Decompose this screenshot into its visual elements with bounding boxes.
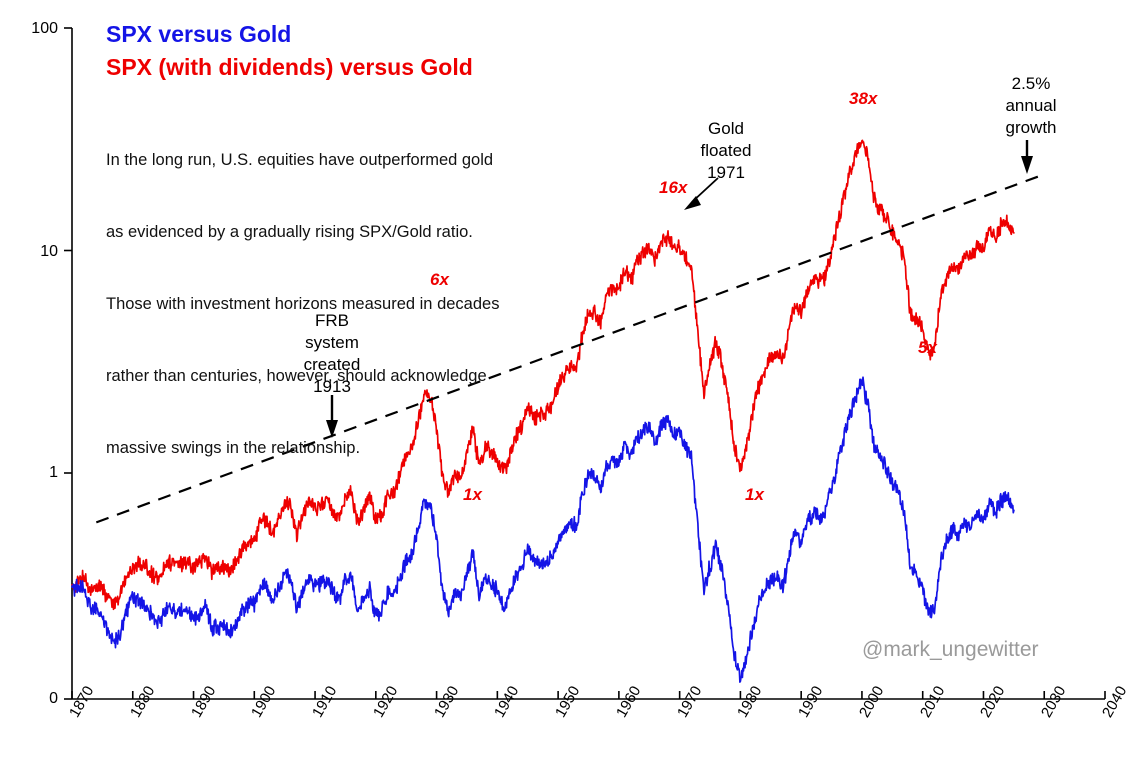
chart-root: 100 10 1 0 18701880189019001910192019301… xyxy=(0,0,1138,778)
watermark-handle: @mark_ungewitter xyxy=(862,638,1039,662)
y-tick-marks xyxy=(64,28,72,699)
multiple-label-16x-2: 16x xyxy=(659,178,687,198)
description-line-1: In the long run, U.S. equities have outp… xyxy=(106,148,499,172)
growth-arrow-icon xyxy=(1021,140,1033,174)
y-tick-label-100: 100 xyxy=(10,20,58,38)
annotation-frb-line-3: created xyxy=(272,354,392,376)
multiple-label-38x-3: 38x xyxy=(849,89,877,109)
title-spx-div-vs-gold: SPX (with dividends) versus Gold xyxy=(106,54,473,81)
annotation-frb: FRBsystemcreated1913 xyxy=(272,310,392,398)
annotation-frb-line-4: 1913 xyxy=(272,376,392,398)
description-line-5: massive swings in the relationship. xyxy=(106,436,499,460)
annotation-gold-floated-line-2: floated xyxy=(666,140,786,162)
annotation-growth-line-3: growth xyxy=(971,117,1091,139)
annotation-frb-line-2: system xyxy=(272,332,392,354)
description-paragraph: In the long run, U.S. equities have outp… xyxy=(106,100,499,508)
multiple-label-1x-4: 1x xyxy=(745,485,764,505)
description-line-2: as evidenced by a gradually rising SPX/G… xyxy=(106,220,499,244)
multiple-label-6x-0: 6x xyxy=(430,270,449,290)
y-tick-label-10: 10 xyxy=(10,243,58,261)
title-spx-vs-gold: SPX versus Gold xyxy=(106,21,291,48)
annotation-growth-line-1: 2.5% xyxy=(971,73,1091,95)
annotation-frb-line-1: FRB xyxy=(272,310,392,332)
multiple-label-5x-5: 5x xyxy=(918,338,937,358)
annotation-gold-floated: Goldfloated1971 xyxy=(666,118,786,184)
annotation-gold-floated-line-1: Gold xyxy=(666,118,786,140)
y-tick-label-0: 0 xyxy=(10,690,58,708)
y-tick-label-1: 1 xyxy=(10,464,58,482)
annotation-growth: 2.5%annualgrowth xyxy=(971,73,1091,139)
x-tick-marks xyxy=(72,691,1105,699)
multiple-label-1x-1: 1x xyxy=(463,485,482,505)
annotation-growth-line-2: annual xyxy=(971,95,1091,117)
